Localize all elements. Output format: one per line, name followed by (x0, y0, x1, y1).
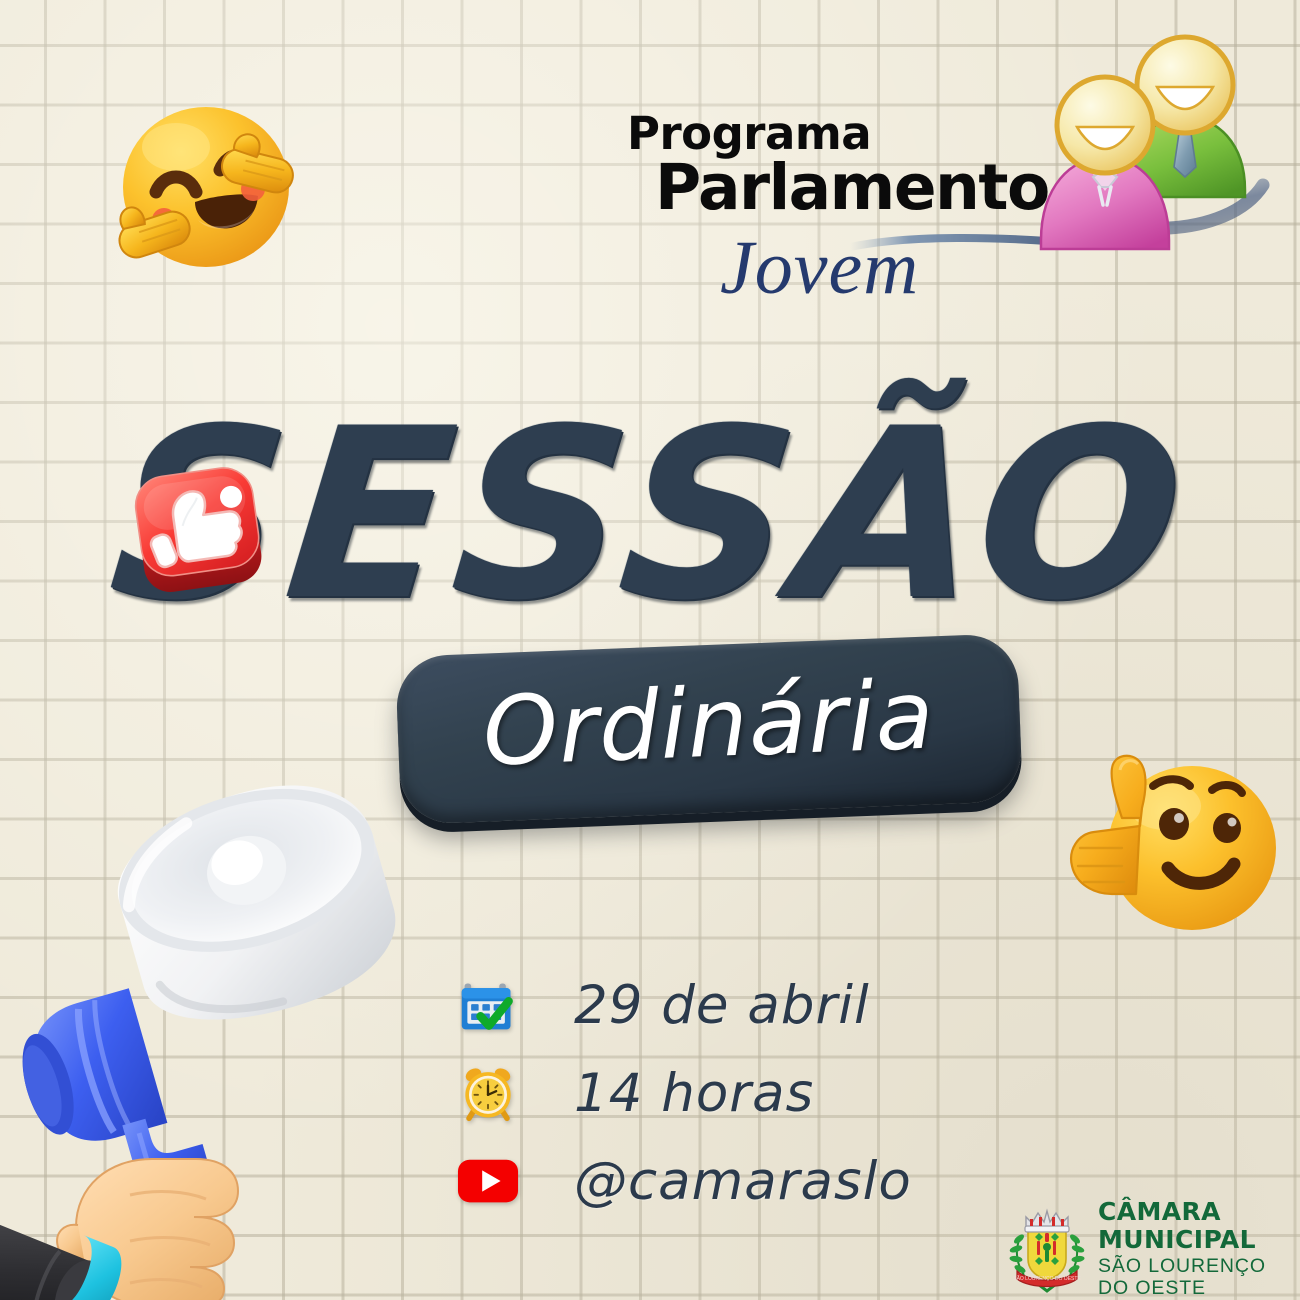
detail-row-date: 29 de abril (452, 962, 972, 1048)
calendar-check-icon (452, 969, 524, 1041)
logo-line-parlamento: Parlamento (655, 151, 1049, 224)
two-people-icon (1013, 25, 1283, 275)
detail-row-time: 14 horas (452, 1050, 972, 1136)
camara-logo-title: CÂMARA MUNICIPAL (1098, 1198, 1300, 1254)
youtube-icon[interactable] (452, 1145, 524, 1217)
camara-logo-subtitle: SÃO LOURENÇO DO OESTE (1098, 1256, 1300, 1300)
emoji-smiling-thumbs-up-icon (1050, 748, 1285, 943)
page-title: SESSÃO (0, 398, 1300, 633)
poster-canvas: Programa Parlamento Jovem (0, 0, 1300, 1300)
logo-line-jovem: Jovem (720, 225, 919, 312)
camara-municipal-logo: SÃO LOURENÇO DO OESTE CÂMARA MUNICIPAL S… (1008, 1198, 1300, 1300)
detail-channel-text[interactable]: @camaraslo (574, 1151, 912, 1212)
detail-date-text: 29 de abril (574, 975, 870, 1036)
alarm-clock-icon (452, 1057, 524, 1129)
detail-row-channel[interactable]: @camaraslo (452, 1138, 972, 1224)
camara-logo-text: CÂMARA MUNICIPAL SÃO LOURENÇO DO OESTE (1098, 1198, 1300, 1300)
emoji-two-thumbs-up-grinning-icon (98, 92, 318, 287)
program-logo: Programa Parlamento Jovem (600, 95, 1070, 335)
event-details-list: 29 de abril (452, 962, 972, 1226)
subtitle-text: Ordinária (395, 633, 1023, 825)
svg-text:SÃO LOURENÇO DO OESTE: SÃO LOURENÇO DO OESTE (1013, 1275, 1081, 1282)
detail-time-text: 14 horas (574, 1063, 814, 1124)
megaphone-in-hand-3d-icon (0, 755, 420, 1300)
municipal-crest-icon: SÃO LOURENÇO DO OESTE (1008, 1205, 1086, 1293)
subtitle-pill: Ordinária (395, 633, 1023, 825)
